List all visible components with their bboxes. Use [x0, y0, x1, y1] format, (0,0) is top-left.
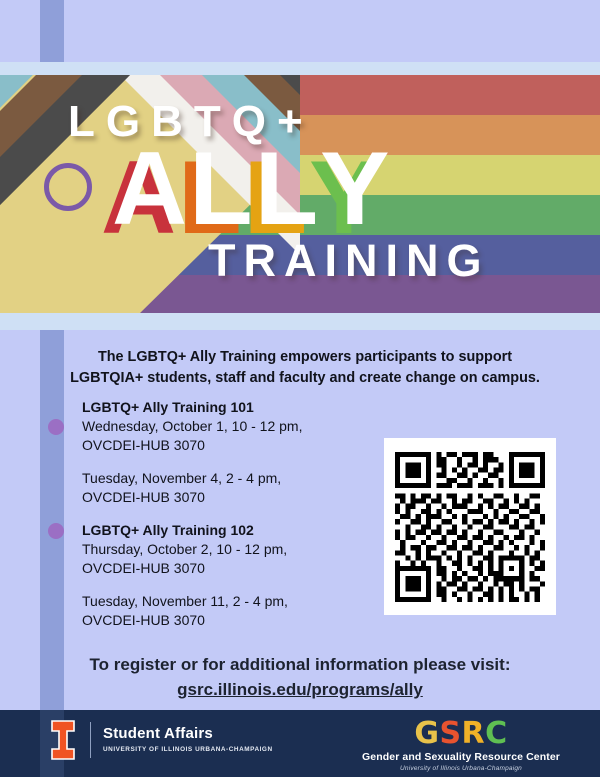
- register-prompt: To register or for additional informatio…: [30, 652, 570, 677]
- banner-title-group: LGBTQ+ ALLY TRAINING: [0, 75, 600, 313]
- training-101-session1-date: Wednesday, October 1, 10 - 12 pm,: [82, 417, 378, 436]
- gsrc-letter-g: G: [414, 718, 439, 750]
- schedule-group-101: LGBTQ+ Ally Training 101 Wednesday, Octo…: [48, 398, 378, 507]
- training-101-session2-date: Tuesday, November 4, 2 - 4 pm,: [82, 469, 378, 488]
- training-102-session1-date: Thursday, October 2, 10 - 12 pm,: [82, 540, 378, 559]
- bullet-icon: [48, 419, 64, 435]
- gsrc-subtitle: University of Illinois Urbana-Champaign: [346, 764, 576, 774]
- schedule-spacer: [82, 578, 378, 592]
- gsrc-name: Gender and Sexuality Resource Center: [346, 750, 576, 764]
- registration-info: To register or for additional informatio…: [30, 652, 570, 702]
- illinois-block-i-icon: [48, 720, 78, 760]
- decorative-band-top: [0, 62, 600, 76]
- training-102-session2-location: OVCDEI-HUB 3070: [82, 611, 378, 630]
- training-102-session1-location: OVCDEI-HUB 3070: [82, 559, 378, 578]
- ally-letter-a: A: [112, 137, 189, 241]
- training-101-session1-location: OVCDEI-HUB 3070: [82, 436, 378, 455]
- ally-letter-l1: L: [189, 137, 255, 241]
- gsrc-wordmark: GSRC: [346, 718, 576, 750]
- schedule-list: LGBTQ+ Ally Training 101 Wednesday, Octo…: [48, 398, 378, 642]
- header-banner: LGBTQ+ ALLY TRAINING: [0, 75, 600, 313]
- student-affairs-subtitle: UNIVERSITY OF ILLINOIS URBANA-CHAMPAIGN: [103, 745, 273, 755]
- qr-code[interactable]: [384, 438, 556, 615]
- training-101-heading: LGBTQ+ Ally Training 101: [82, 398, 378, 417]
- intro-line-1: The LGBTQ+ Ally Training empowers partic…: [40, 347, 570, 368]
- poster-canvas: LGBTQ+ ALLY TRAINING The LGBTQ+ Ally Tra…: [0, 0, 600, 777]
- schedule-spacer: [82, 455, 378, 469]
- student-affairs-title: Student Affairs: [103, 725, 273, 743]
- register-link[interactable]: gsrc.illinois.edu/programs/ally: [30, 677, 570, 702]
- ally-letter-y: Y: [320, 137, 391, 241]
- ally-letter-l2: L: [255, 137, 321, 241]
- decorative-band-bottom: [0, 312, 600, 330]
- training-102-session2-date: Tuesday, November 11, 2 - 4 pm,: [82, 592, 378, 611]
- training-101-session2-location: OVCDEI-HUB 3070: [82, 488, 378, 507]
- title-ally: ALLY: [112, 137, 392, 242]
- training-102-heading: LGBTQ+ Ally Training 102: [82, 521, 378, 540]
- bullet-icon: [48, 523, 64, 539]
- gsrc-logo-group: GSRC Gender and Sexuality Resource Cente…: [346, 718, 576, 774]
- gsrc-letter-c: C: [485, 718, 508, 750]
- intro-line-2: LGBTQIA+ students, staff and faculty and…: [40, 368, 570, 389]
- schedule-group-102: LGBTQ+ Ally Training 102 Thursday, Octob…: [48, 521, 378, 630]
- footer-bar: Student Affairs UNIVERSITY OF ILLINOIS U…: [0, 710, 600, 777]
- logo-divider: [90, 722, 91, 758]
- title-training: TRAINING: [208, 235, 490, 287]
- student-affairs-logo-group: Student Affairs UNIVERSITY OF ILLINOIS U…: [48, 720, 273, 760]
- intro-paragraph: The LGBTQ+ Ally Training empowers partic…: [40, 347, 570, 389]
- gsrc-letter-s: S: [439, 718, 461, 750]
- gsrc-letter-r: R: [462, 718, 486, 750]
